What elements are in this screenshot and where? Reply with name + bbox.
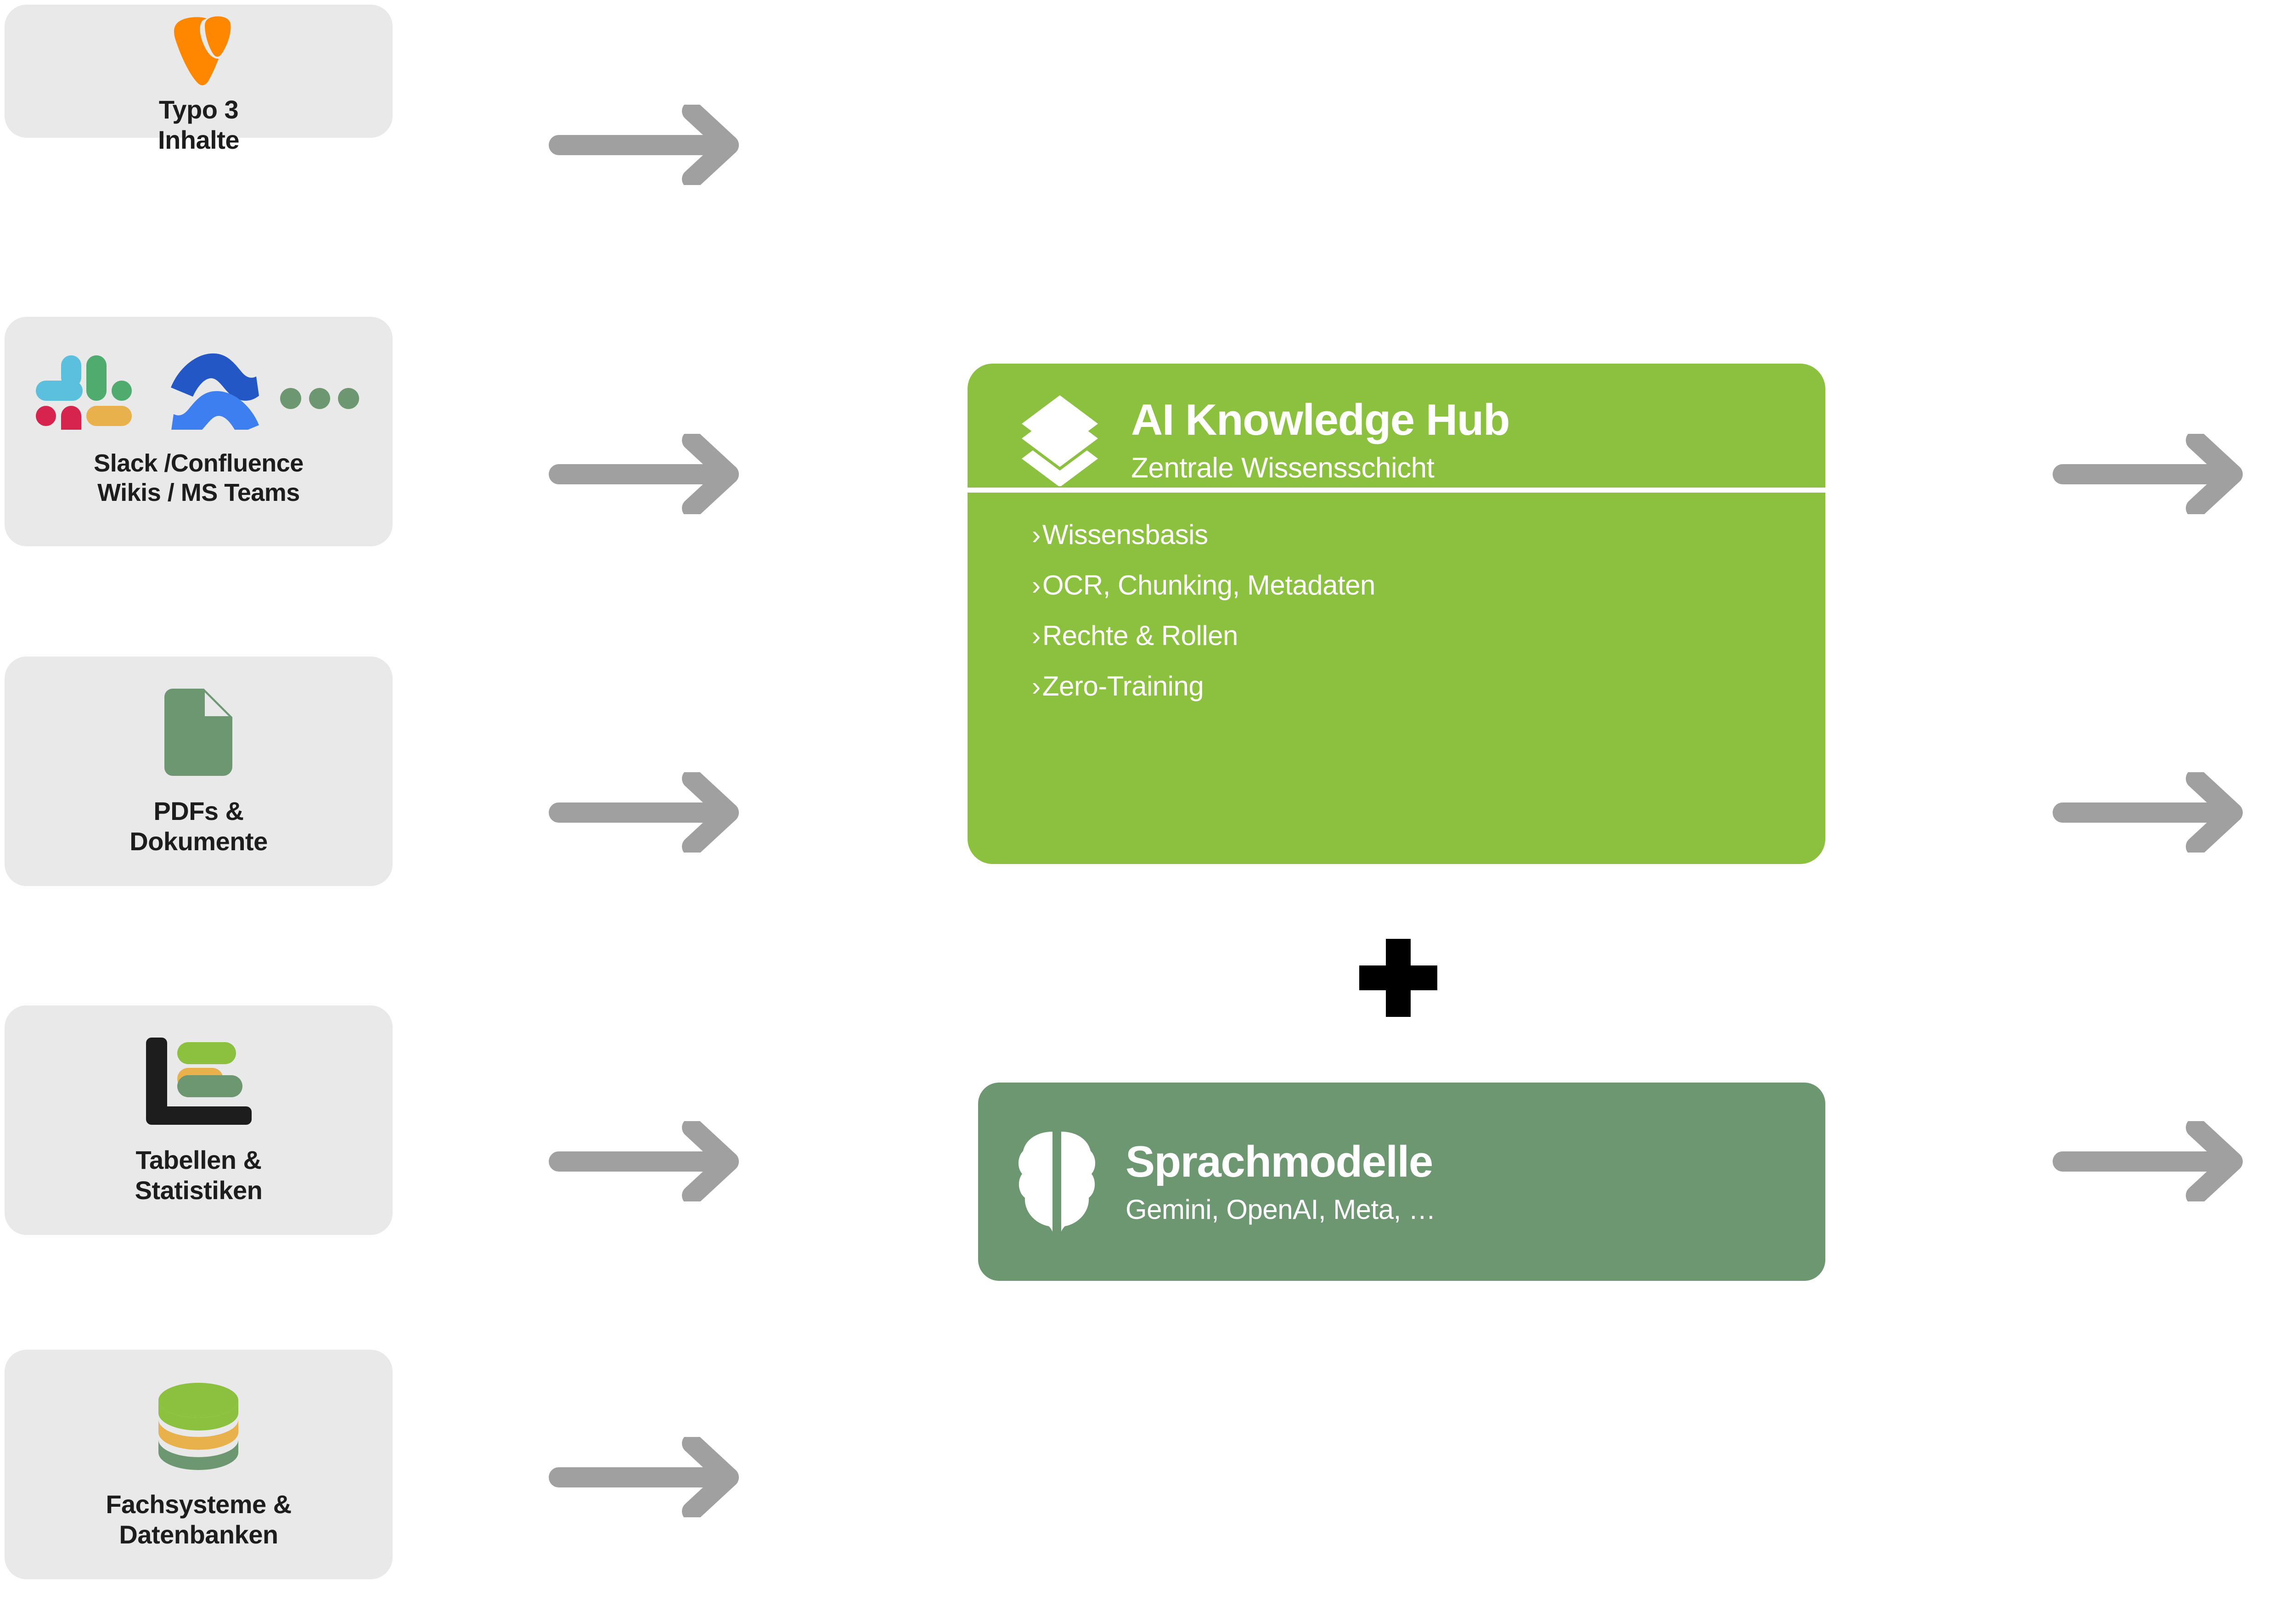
arrow-right-icon bbox=[549, 105, 746, 185]
source-card-collab[interactable]: Slack /Confluence Wikis / MS Teams bbox=[5, 317, 393, 546]
arrow-right-icon bbox=[549, 1437, 746, 1517]
source-label-line1: Slack /Confluence bbox=[5, 449, 393, 478]
typo3-logo-icon bbox=[5, 15, 393, 88]
source-card-typo3[interactable]: Typo 3 Inhalte bbox=[5, 5, 393, 138]
source-card-tables[interactable]: Tabellen & Statistiken bbox=[5, 1005, 393, 1235]
database-icon bbox=[5, 1383, 393, 1470]
list-item: › Rechte & Rollen bbox=[1032, 622, 1825, 650]
plus-icon bbox=[1359, 939, 1437, 1017]
arrow-right-icon bbox=[549, 772, 746, 853]
source-label-line1: PDFs & bbox=[5, 796, 393, 826]
llm-title: Sprachmodelle bbox=[1125, 1140, 1435, 1184]
arrow-right-icon bbox=[2053, 772, 2250, 853]
hub-item-label: OCR, Chunking, Metadaten bbox=[1042, 572, 1375, 599]
sprachmodelle-card[interactable]: Sprachmodelle Gemini, OpenAI, Meta, … bbox=[978, 1083, 1825, 1281]
source-card-label: Fachsysteme & Datenbanken bbox=[5, 1489, 393, 1550]
arrow-right-icon bbox=[549, 434, 746, 514]
chevron-right-icon: › bbox=[1032, 623, 1041, 650]
chevron-right-icon: › bbox=[1032, 522, 1041, 549]
brain-icon bbox=[1017, 1129, 1097, 1234]
hub-header-text: AI Knowledge Hub Zentrale Wissensschicht bbox=[1131, 398, 1509, 483]
slack-confluence-icon bbox=[5, 347, 393, 430]
list-item: › OCR, Chunking, Metadaten bbox=[1032, 572, 1825, 599]
arrow-right-icon bbox=[2053, 434, 2250, 514]
hub-item-label: Rechte & Rollen bbox=[1042, 622, 1238, 650]
source-card-documents[interactable]: PDFs & Dokumente bbox=[5, 656, 393, 886]
document-icon bbox=[5, 689, 393, 776]
source-card-label: PDFs & Dokumente bbox=[5, 796, 393, 857]
ai-knowledge-hub-card[interactable]: AI Knowledge Hub Zentrale Wissensschicht… bbox=[968, 364, 1825, 864]
hub-subtitle: Zentrale Wissensschicht bbox=[1131, 454, 1509, 483]
source-card-label: Tabellen & Statistiken bbox=[5, 1145, 393, 1206]
chevron-right-icon: › bbox=[1032, 673, 1041, 700]
hub-title: AI Knowledge Hub bbox=[1131, 398, 1509, 442]
layers-stack-icon bbox=[1016, 394, 1103, 486]
arrow-right-icon bbox=[2053, 1121, 2250, 1201]
chevron-right-icon: › bbox=[1032, 572, 1041, 599]
hub-item-label: Zero-Training bbox=[1042, 673, 1204, 700]
hub-feature-list: › Wissensbasis › OCR, Chunking, Metadate… bbox=[968, 493, 1825, 700]
diagram-canvas: Typo 3 Inhalte bbox=[0, 0, 2296, 1616]
source-label-line1: Tabellen & bbox=[5, 1145, 393, 1175]
list-item: › Zero-Training bbox=[1032, 673, 1825, 700]
source-card-label: Typo 3 Inhalte bbox=[5, 95, 393, 155]
list-item: › Wissensbasis bbox=[1032, 521, 1825, 549]
source-label-line1: Fachsysteme & bbox=[5, 1489, 393, 1520]
source-label-line2: Inhalte bbox=[5, 125, 393, 155]
arrow-right-icon bbox=[549, 1121, 746, 1201]
source-card-label: Slack /Confluence Wikis / MS Teams bbox=[5, 449, 393, 507]
hub-divider bbox=[968, 488, 1825, 493]
source-label-line2: Dokumente bbox=[5, 826, 393, 857]
source-label-line2: Wikis / MS Teams bbox=[5, 478, 393, 508]
source-label-line2: Datenbanken bbox=[5, 1520, 393, 1550]
source-label-line1: Typo 3 bbox=[5, 95, 393, 125]
source-label-line2: Statistiken bbox=[5, 1175, 393, 1206]
bar-chart-icon bbox=[5, 1038, 393, 1125]
llm-subtitle: Gemini, OpenAI, Meta, … bbox=[1125, 1196, 1435, 1223]
source-card-databases[interactable]: Fachsysteme & Datenbanken bbox=[5, 1350, 393, 1579]
hub-header: AI Knowledge Hub Zentrale Wissensschicht bbox=[968, 364, 1825, 488]
hub-item-label: Wissensbasis bbox=[1042, 521, 1208, 549]
llm-card-text: Sprachmodelle Gemini, OpenAI, Meta, … bbox=[1125, 1140, 1435, 1223]
